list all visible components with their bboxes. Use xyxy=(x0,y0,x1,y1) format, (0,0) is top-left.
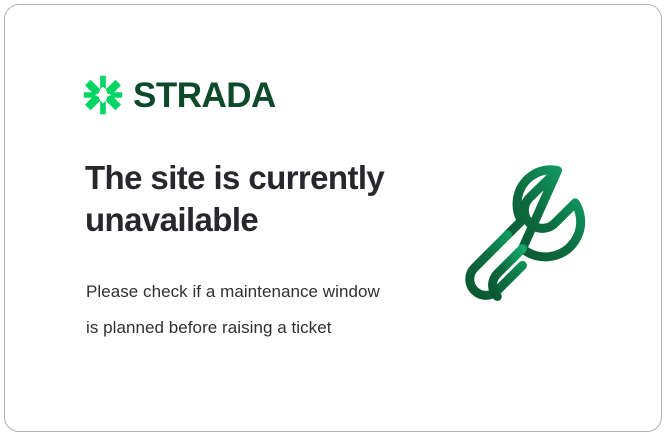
brand-wordmark: STRADA xyxy=(133,78,276,113)
strada-asterisk-icon xyxy=(83,75,123,115)
page-title: The site is currently unavailable xyxy=(85,157,415,240)
page-description: Please check if a maintenance window is … xyxy=(86,274,396,345)
brand-lockup: STRADA xyxy=(83,75,276,115)
error-page: STRADA The site is currently unavailable… xyxy=(0,0,666,436)
wrench-icon xyxy=(460,157,620,317)
status-card: STRADA The site is currently unavailable… xyxy=(4,4,662,432)
